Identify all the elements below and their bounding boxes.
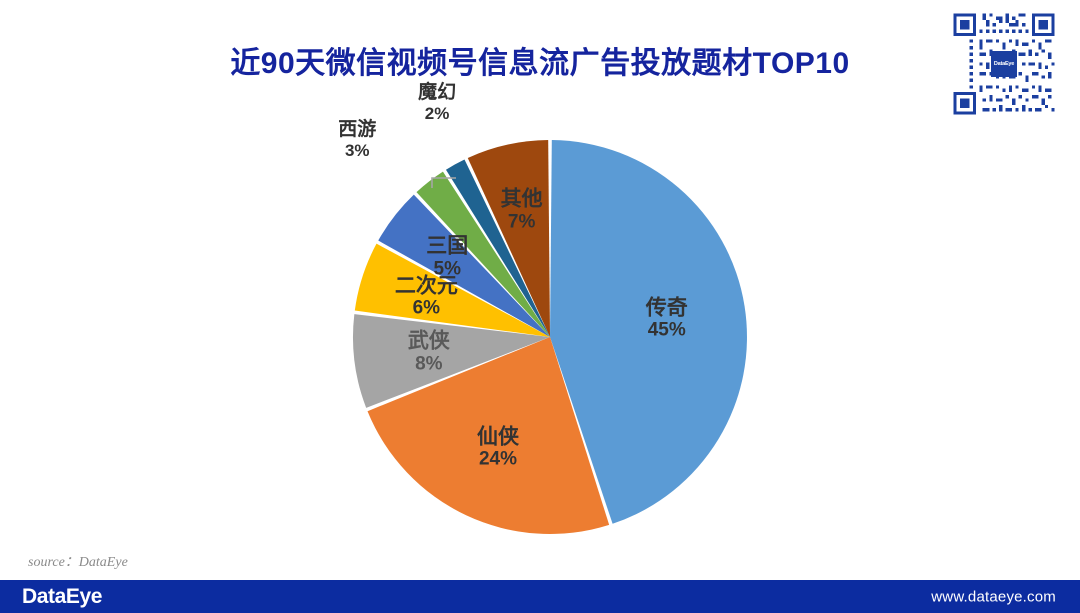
page-title: 近90天微信视频号信息流广告投放题材TOP10 — [0, 38, 1080, 82]
footer-logo: DataEye — [22, 585, 102, 609]
qr-code[interactable]: DataEye — [950, 10, 1058, 118]
pie-chart-svg — [280, 115, 820, 545]
pie-chart: 传奇45%仙侠24%武侠8%二次元6%三国5%西游3%魔幻2%其他7% — [280, 115, 820, 545]
pie-slices — [353, 140, 747, 534]
source-note: source：DataEye — [28, 551, 128, 571]
footer-bar: DataEye www.dataeye.com — [0, 580, 1080, 613]
footer-url[interactable]: www.dataeye.com — [931, 588, 1056, 605]
pie-slice-name: 魔幻 — [418, 82, 456, 103]
qr-center-logo: DataEye — [991, 51, 1017, 77]
